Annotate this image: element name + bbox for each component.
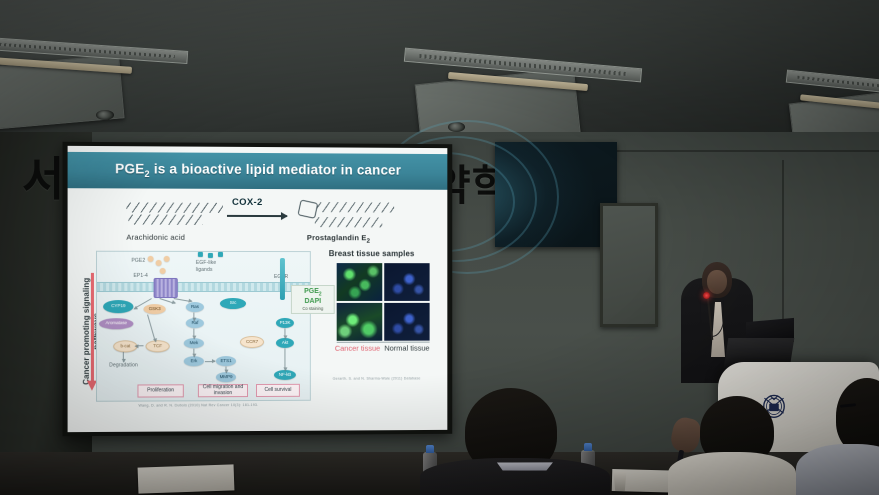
arrow-tcf-to-bcat bbox=[135, 345, 143, 346]
node-p13k: P13K bbox=[276, 318, 294, 328]
egf-ligand-label: EGF-like ligands bbox=[196, 260, 230, 273]
slide-title-bar: PGE2 is a bioactive lipid mediator in ca… bbox=[68, 152, 448, 190]
ep-receptor-label: EP1-4 bbox=[133, 273, 148, 279]
tissue-image-normal-bottom bbox=[384, 303, 429, 341]
audience-shoulders-right bbox=[796, 444, 879, 495]
bottle-cap-left bbox=[426, 445, 434, 453]
projection-screen: PGE2 is a bioactive lipid mediator in ca… bbox=[63, 142, 453, 436]
arrow-ras-to-raf bbox=[193, 313, 194, 321]
stain-label-dapi: DAPI bbox=[293, 298, 333, 306]
down-arrow-icon bbox=[91, 273, 94, 382]
microphone-indicator-light bbox=[703, 292, 710, 299]
tissue-image-grid bbox=[337, 263, 430, 341]
node-aromatase: Aromatase bbox=[99, 318, 133, 329]
egf-ligand-square-1 bbox=[198, 252, 203, 257]
reaction-arrow-icon bbox=[227, 215, 287, 217]
arachidonic-acid-chain-top bbox=[126, 203, 223, 213]
tissue-caption-divider bbox=[337, 342, 430, 343]
node-src: Src bbox=[220, 298, 246, 309]
bottle-cap-right bbox=[584, 443, 592, 451]
node-ras: Ras bbox=[186, 302, 204, 312]
tissue-caption-cancer: Cancer tissue bbox=[335, 345, 381, 354]
presenter-face bbox=[707, 270, 727, 294]
outcome-cell-survival: Cell survival bbox=[256, 384, 300, 397]
wall-sign-text-left: 서 bbox=[22, 143, 65, 209]
whiteboard bbox=[600, 203, 658, 327]
slide-title: PGE2 is a bioactive lipid mediator in ca… bbox=[115, 161, 401, 180]
tissue-panel-title: Breast tissue samples bbox=[329, 249, 415, 258]
stain-label-pge2: PGE2 bbox=[293, 288, 333, 298]
arrow-gsk3-to-bcat bbox=[147, 314, 156, 341]
pge2-triangle-4 bbox=[160, 268, 166, 274]
arrow-raf-to-mek bbox=[193, 329, 194, 339]
pge2-triangle-1 bbox=[148, 256, 154, 262]
arrow-akt-to-nfkb bbox=[284, 348, 285, 370]
breast-tissue-panel: Breast tissue samples PGE2 DAPI Co stain… bbox=[315, 249, 436, 401]
arrow-erk-to-ets1 bbox=[205, 361, 215, 362]
audience-collar-center bbox=[497, 462, 553, 472]
cell-membrane bbox=[97, 282, 310, 292]
egfr-receptor bbox=[280, 258, 285, 300]
downlight-1 bbox=[96, 110, 114, 120]
slide-title-prefix: PGE bbox=[115, 161, 144, 176]
arrow-mek-to-erk bbox=[193, 349, 194, 357]
prostaglandin-chain-top bbox=[317, 202, 394, 212]
arachidonic-acid-chain-bottom bbox=[128, 215, 203, 225]
tissue-image-cancer-top bbox=[337, 263, 383, 301]
egf-ligand-square-2 bbox=[208, 253, 213, 258]
handout-paper-left bbox=[138, 464, 235, 493]
pathway-citation: Wang, D. and R. N. Dubois (2010) Nat Rev… bbox=[138, 403, 258, 408]
pge2-ligand-label: PGE2 bbox=[131, 258, 145, 264]
product-name: Prostaglandin E bbox=[307, 233, 367, 242]
wall-banner bbox=[495, 142, 617, 247]
tissue-citation: Gerarth, S. and N. Sharma-Wale (2011) Da… bbox=[333, 376, 421, 380]
molecule-label-product: Prostaglandin E2 bbox=[307, 233, 370, 245]
ep1-4-receptor bbox=[154, 278, 178, 298]
node-ets1: ETS1 bbox=[216, 356, 236, 366]
slide-content: PGE2 is a bioactive lipid mediator in ca… bbox=[68, 146, 448, 432]
enzyme-label-cox2: COX-2 bbox=[232, 197, 263, 208]
egf-ligand-square-3 bbox=[218, 252, 223, 257]
degradation-label: Degradation bbox=[109, 362, 138, 368]
node-gsk3: GSK3 bbox=[144, 304, 166, 314]
stain-legend: PGE2 DAPI Co staining bbox=[291, 285, 335, 314]
arrow-p13k-to-akt bbox=[284, 328, 285, 338]
pge2-triangle-3 bbox=[164, 256, 170, 262]
audience-shoulders-far-left bbox=[668, 452, 796, 495]
lecture-hall-photo: 서 약학과 PGE2 is a bioactive lipid mediator… bbox=[0, 0, 879, 495]
arrow-bcat-to-degradation bbox=[123, 352, 124, 362]
outcome-cell-migration: Cell migration and invasion bbox=[198, 384, 248, 397]
cancer-pathway-axis-label: Cancer promoting signaling pathways bbox=[76, 265, 98, 398]
product-subscript: 2 bbox=[367, 238, 371, 245]
prostaglandin-ring bbox=[297, 199, 318, 218]
node-ccr7: CCR7 bbox=[240, 336, 264, 348]
node-cyp19: CYP19 bbox=[103, 300, 133, 313]
stain-label-costaining: Co staining bbox=[293, 306, 333, 311]
arrow-ets1-to-mmp9 bbox=[225, 367, 226, 373]
molecule-label-substrate: Arachidonic acid bbox=[126, 233, 185, 242]
tissue-image-normal-top bbox=[384, 263, 429, 301]
outcome-proliferation: Proliferation bbox=[137, 384, 183, 397]
prostaglandin-chain-bottom bbox=[315, 217, 382, 227]
tissue-caption-normal: Normal tissue bbox=[384, 345, 429, 354]
reaction-scheme: Arachidonic acid COX-2 Prostaglandin E2 bbox=[68, 192, 448, 249]
slide-title-rest: is a bioactive lipid mediator in cancer bbox=[150, 162, 401, 178]
tissue-image-cancer-bottom bbox=[337, 303, 383, 341]
signaling-pathway-diagram: PGE2 EGF-like ligands EP1-4 EGFR CYP19 A… bbox=[96, 251, 311, 402]
pge2-triangle-2 bbox=[156, 260, 162, 266]
